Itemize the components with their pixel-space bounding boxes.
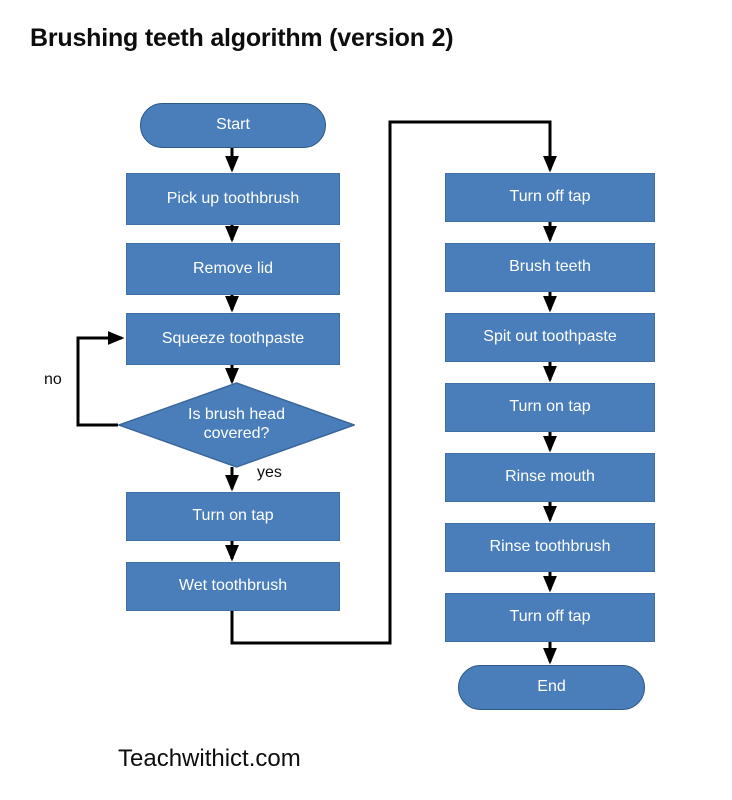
flowchart-canvas: Brushing teeth algorithm (version 2): [0, 0, 732, 800]
node-turn-off-tap-1[interactable]: Turn off tap: [445, 173, 655, 222]
node-is-brush-head-covered[interactable]: Is brush head covered?: [118, 382, 355, 468]
node-turn-on-tap-1[interactable]: Turn on tap: [126, 492, 340, 541]
node-end[interactable]: End: [458, 665, 645, 710]
node-rinse-mouth[interactable]: Rinse mouth: [445, 453, 655, 502]
node-wet-toothbrush[interactable]: Wet toothbrush: [126, 562, 340, 611]
node-start[interactable]: Start: [140, 103, 326, 148]
node-squeeze-toothpaste[interactable]: Squeeze toothpaste: [126, 313, 340, 365]
node-turn-on-tap-2[interactable]: Turn on tap: [445, 383, 655, 432]
node-brush-teeth[interactable]: Brush teeth: [445, 243, 655, 292]
attribution-footer: Teachwithict.com: [118, 745, 301, 773]
node-spit-out-toothpaste[interactable]: Spit out toothpaste: [445, 313, 655, 362]
node-turn-off-tap-2[interactable]: Turn off tap: [445, 593, 655, 642]
page-title: Brushing teeth algorithm (version 2): [30, 24, 453, 53]
node-label: Is brush head covered?: [188, 406, 285, 444]
edge-label-no: no: [44, 371, 62, 389]
node-remove-lid[interactable]: Remove lid: [126, 243, 340, 295]
node-pick-up-toothbrush[interactable]: Pick up toothbrush: [126, 173, 340, 225]
node-rinse-toothbrush[interactable]: Rinse toothbrush: [445, 523, 655, 572]
